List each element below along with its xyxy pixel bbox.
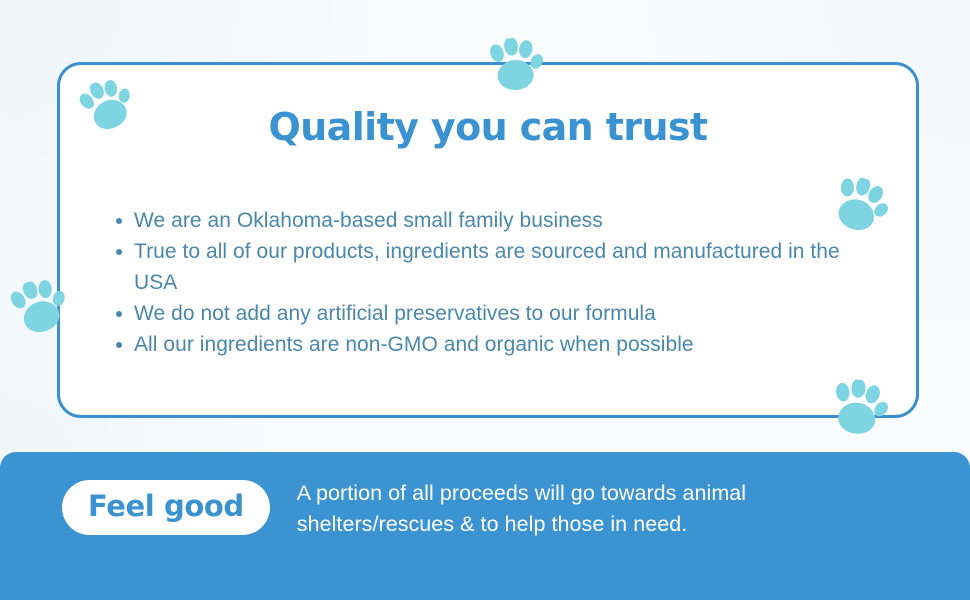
trust-bullet-list: We are an Oklahoma-based small family bu… [106,205,876,360]
list-item: True to all of our products, ingredients… [106,236,876,298]
list-item: All our ingredients are non-GMO and orga… [106,329,876,360]
list-item: We do not add any artificial preservativ… [106,298,876,329]
quality-trust-card: Quality you can trust We are an Oklahoma… [57,62,919,418]
feel-good-badge: Feel good [62,480,270,535]
feel-good-message: A portion of all proceeds will go toward… [297,478,915,540]
feel-good-banner: Feel good A portion of all proceeds will… [0,452,970,600]
list-item: We are an Oklahoma-based small family bu… [106,205,876,236]
feel-good-message-line-2: shelters/rescues & to help those in need… [297,509,915,540]
feel-good-message-line-1: A portion of all proceeds will go toward… [297,478,915,509]
page-title: Quality you can trust [60,105,916,149]
